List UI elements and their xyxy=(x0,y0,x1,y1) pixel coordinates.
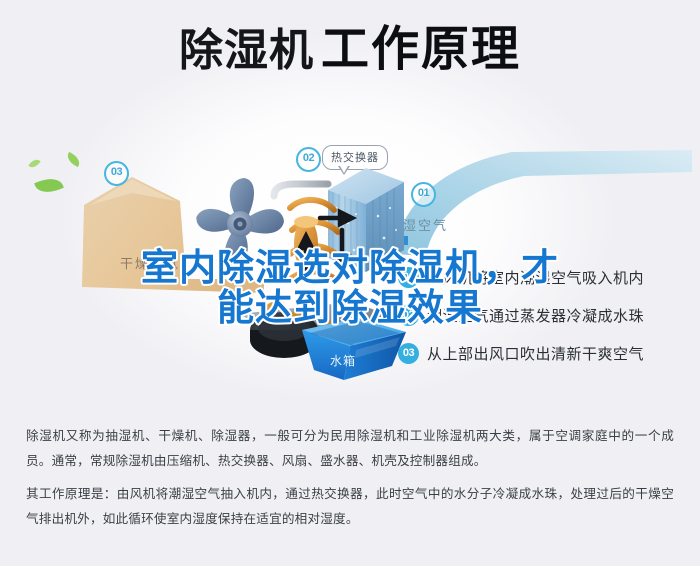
step-text: 潮湿空气通过蒸发器冷凝成水珠 xyxy=(427,305,644,326)
list-item: 01 由风机将室内潮湿空气吸入机内 xyxy=(398,258,694,296)
fan-blade-icon xyxy=(186,176,294,272)
body-paragraph-2-lead: 其工作原理是： xyxy=(26,486,117,501)
step-text: 从上部出风口吹出清新干爽空气 xyxy=(427,343,644,364)
step-badge: 03 xyxy=(398,343,419,364)
article-body: 除湿机又称为抽湿机、干燥机、除湿器，一般可分为民用除湿机和工业除湿机两大类，属于… xyxy=(0,408,700,566)
illustration-figure: 除湿机工作原理 干燥空气 03 xyxy=(0,0,700,410)
dry-air-label: 干燥空气 xyxy=(120,253,180,272)
humid-air-step-badge: 01 xyxy=(411,182,436,207)
list-item: 02 潮湿空气通过蒸发器冷凝成水珠 xyxy=(398,296,694,334)
step-badge: 02 xyxy=(398,305,419,326)
heat-exchanger-callout: 热交换器 xyxy=(322,145,388,170)
heat-exchanger-step-badge: 02 xyxy=(296,147,321,172)
step-badge: 01 xyxy=(398,267,419,288)
dry-air-step-badge: 03 xyxy=(104,161,129,186)
page-title: 除湿机工作原理 xyxy=(0,26,700,74)
body-paragraph-2: 其工作原理是：由风机将潮湿空气抽入机内，通过热交换器，此时空气中的水分子冷凝成水… xyxy=(26,482,674,531)
body-paragraph-2-text: 由风机将潮湿空气抽入机内，通过热交换器，此时空气中的水分子冷凝成水珠，处理过后的… xyxy=(26,486,674,526)
humid-air-arrow-icon xyxy=(392,150,692,270)
body-paragraph-1: 除湿机又称为抽湿机、干燥机、除湿器，一般可分为民用除湿机和工业除湿机两大类，属于… xyxy=(26,424,674,473)
water-tank-label: 水箱 xyxy=(330,352,356,369)
list-item: 03 从上部出风口吹出清新干爽空气 xyxy=(398,334,694,372)
page-title-part1: 除湿机 xyxy=(179,25,314,76)
leaf-icon xyxy=(28,157,40,170)
page-title-part2: 工作原理 xyxy=(321,23,521,76)
step-list: 01 由风机将室内潮湿空气吸入机内 02 潮湿空气通过蒸发器冷凝成水珠 03 从… xyxy=(398,258,694,372)
step-text: 由风机将室内潮湿空气吸入机内 xyxy=(427,267,644,288)
